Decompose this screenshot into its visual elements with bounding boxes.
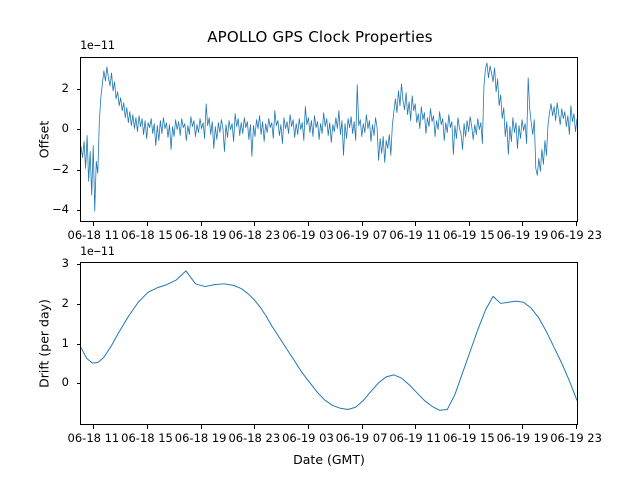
offset-y-tick [77, 210, 81, 211]
drift-exponent-label: 1e−11 [80, 244, 115, 258]
drift-x-tick [362, 425, 363, 429]
offset-plot-axes [80, 57, 578, 222]
offset-x-tick-label: 06-18 11 [68, 228, 120, 242]
drift-y-tick-label: 0 [29, 375, 69, 389]
offset-x-tick-label: 06-19 23 [550, 228, 602, 242]
offset-y-tick-label: 2 [29, 81, 69, 95]
offset-x-tick [415, 222, 416, 226]
offset-data-line [81, 63, 577, 211]
drift-y-tick [77, 383, 81, 384]
offset-y-tick-label: 0 [29, 121, 69, 135]
offset-y-tick-label: −4 [29, 202, 69, 216]
drift-line-plot [81, 263, 577, 424]
drift-x-tick [308, 425, 309, 429]
drift-x-tick-label: 06-19 07 [336, 431, 388, 445]
offset-x-tick [254, 222, 255, 226]
drift-x-tick [576, 425, 577, 429]
drift-y-tick [77, 344, 81, 345]
drift-x-tick-label: 06-19 23 [550, 431, 602, 445]
offset-y-tick [77, 89, 81, 90]
offset-x-tick [522, 222, 523, 226]
offset-x-tick [362, 222, 363, 226]
drift-x-tick-label: 06-19 03 [282, 431, 334, 445]
drift-y-tick-label: 2 [29, 296, 69, 310]
offset-x-tick [308, 222, 309, 226]
drift-x-tick-label: 06-19 15 [443, 431, 495, 445]
drift-x-tick-label: 06-18 19 [175, 431, 227, 445]
offset-y-tick [77, 129, 81, 130]
drift-x-tick-label: 06-18 15 [121, 431, 173, 445]
matplotlib-figure: APOLLO GPS Clock Properties 1e−11 Offset… [0, 0, 640, 480]
offset-x-tick [147, 222, 148, 226]
offset-y-tick [77, 170, 81, 171]
offset-x-tick-label: 06-19 11 [389, 228, 441, 242]
drift-x-tick [93, 425, 94, 429]
drift-x-tick [254, 425, 255, 429]
drift-data-line [81, 271, 577, 410]
offset-x-tick-label: 06-19 03 [282, 228, 334, 242]
x-axis-label: Date (GMT) [80, 452, 578, 467]
drift-y-tick [77, 264, 81, 265]
offset-x-tick-label: 06-19 15 [443, 228, 495, 242]
drift-x-tick-label: 06-18 11 [68, 431, 120, 445]
drift-y-tick-label: 1 [29, 336, 69, 350]
drift-x-tick [147, 425, 148, 429]
offset-x-tick-label: 06-18 15 [121, 228, 173, 242]
drift-x-tick-label: 06-19 11 [389, 431, 441, 445]
offset-x-tick-label: 06-18 19 [175, 228, 227, 242]
drift-y-tick [77, 304, 81, 305]
drift-x-tick-label: 06-18 23 [228, 431, 280, 445]
offset-x-tick-label: 06-19 07 [336, 228, 388, 242]
offset-y-tick-label: −2 [29, 162, 69, 176]
offset-x-tick [576, 222, 577, 226]
drift-x-tick-label: 06-19 19 [497, 431, 549, 445]
offset-x-tick-label: 06-19 19 [497, 228, 549, 242]
offset-line-plot [81, 58, 577, 221]
offset-exponent-label: 1e−11 [80, 38, 115, 52]
offset-x-tick-label: 06-18 23 [228, 228, 280, 242]
drift-x-tick [201, 425, 202, 429]
offset-x-tick [201, 222, 202, 226]
drift-plot-axes [80, 262, 578, 425]
drift-x-tick [415, 425, 416, 429]
offset-x-tick [93, 222, 94, 226]
drift-x-tick [469, 425, 470, 429]
drift-y-tick-label: 3 [29, 256, 69, 270]
offset-x-tick [469, 222, 470, 226]
drift-x-tick [522, 425, 523, 429]
